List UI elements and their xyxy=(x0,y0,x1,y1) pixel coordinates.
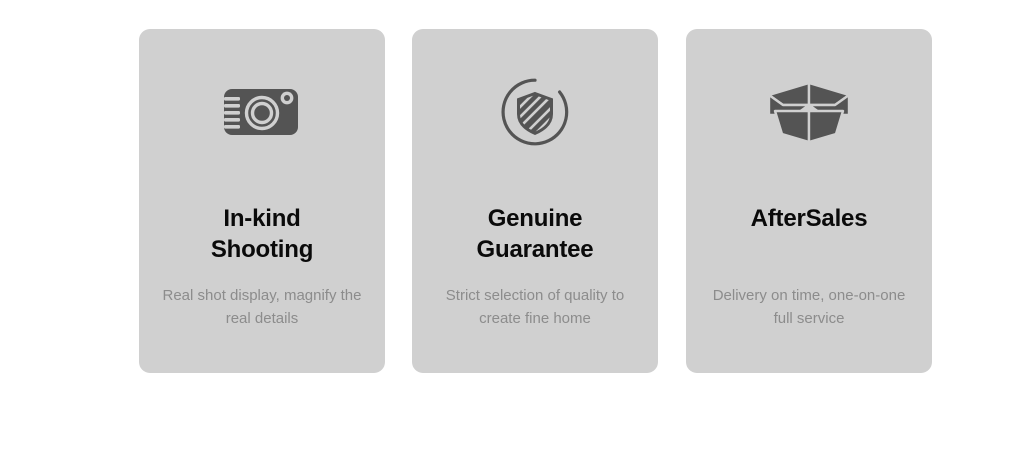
card-description: Delivery on time, one-on-one full servic… xyxy=(702,284,916,330)
card-title: Genuine Guarantee xyxy=(426,203,644,265)
feature-card-aftersales[interactable]: AfterSales Delivery on time, one-on-one … xyxy=(686,29,932,373)
feature-card-genuine-guarantee[interactable]: Genuine Guarantee Strict selection of qu… xyxy=(412,29,658,373)
card-title: In-kind Shooting xyxy=(153,203,371,265)
card-title-line-1: AfterSales xyxy=(751,205,868,232)
shield-guarantee-icon xyxy=(412,29,658,194)
feature-cards-section: In-kind Shooting Real shot display, magn… xyxy=(0,0,1024,469)
card-title-line-1: In-kind xyxy=(223,205,300,232)
card-description: Strict selection of quality to create fi… xyxy=(428,284,642,330)
card-description: Real shot display, magnify the real deta… xyxy=(155,284,369,330)
camera-icon xyxy=(139,29,385,194)
open-box-icon xyxy=(686,29,932,194)
card-title-line-1: Genuine xyxy=(488,205,583,232)
card-title: AfterSales xyxy=(700,203,918,234)
card-title-line-2: Guarantee xyxy=(477,236,594,263)
feature-card-in-kind-shooting[interactable]: In-kind Shooting Real shot display, magn… xyxy=(139,29,385,373)
card-title-line-2: Shooting xyxy=(211,236,313,263)
